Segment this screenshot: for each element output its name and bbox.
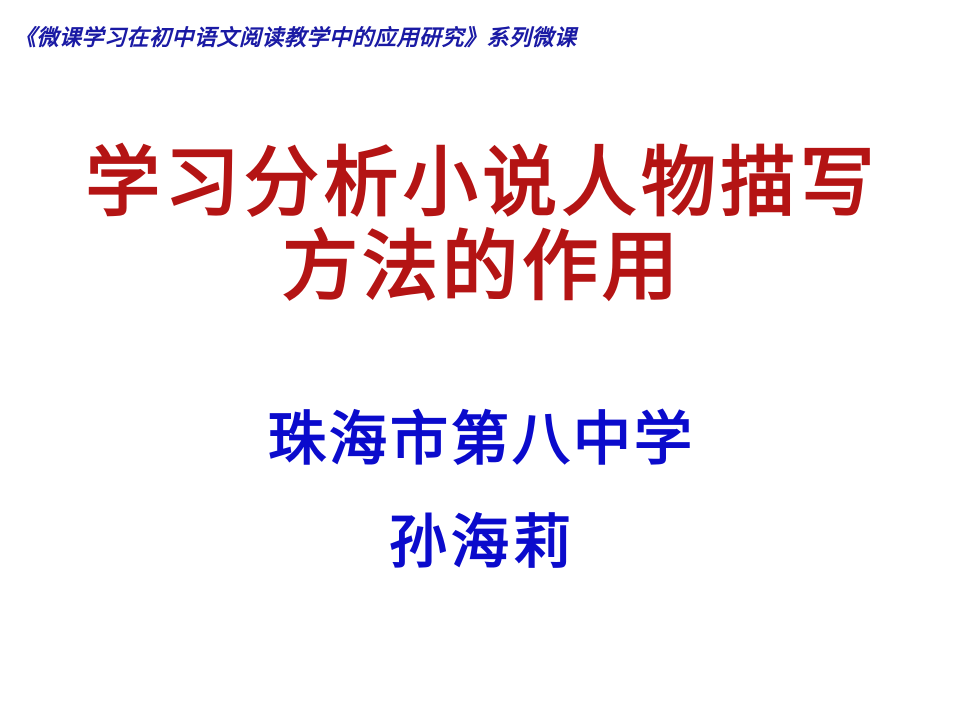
presentation-slide: 《微课学习在初中语文阅读教学中的应用研究》系列微课 学习分析小说人物描写 方法的… — [0, 0, 960, 720]
slide-blank-region — [0, 600, 960, 720]
slide-title: 学习分析小说人物描写 方法的作用 — [0, 140, 960, 307]
series-header-text: 《微课学习在初中语文阅读教学中的应用研究》系列微课 — [14, 25, 714, 51]
slide-title-line-1: 学习分析小说人物描写 — [10, 140, 951, 225]
school-name: 珠海市第八中学 — [0, 406, 960, 473]
attribution-block: 珠海市第八中学 孙海莉 — [0, 406, 960, 575]
slide-title-line-2: 方法的作用 — [0, 227, 960, 307]
author-name: 孙海莉 — [0, 509, 960, 576]
